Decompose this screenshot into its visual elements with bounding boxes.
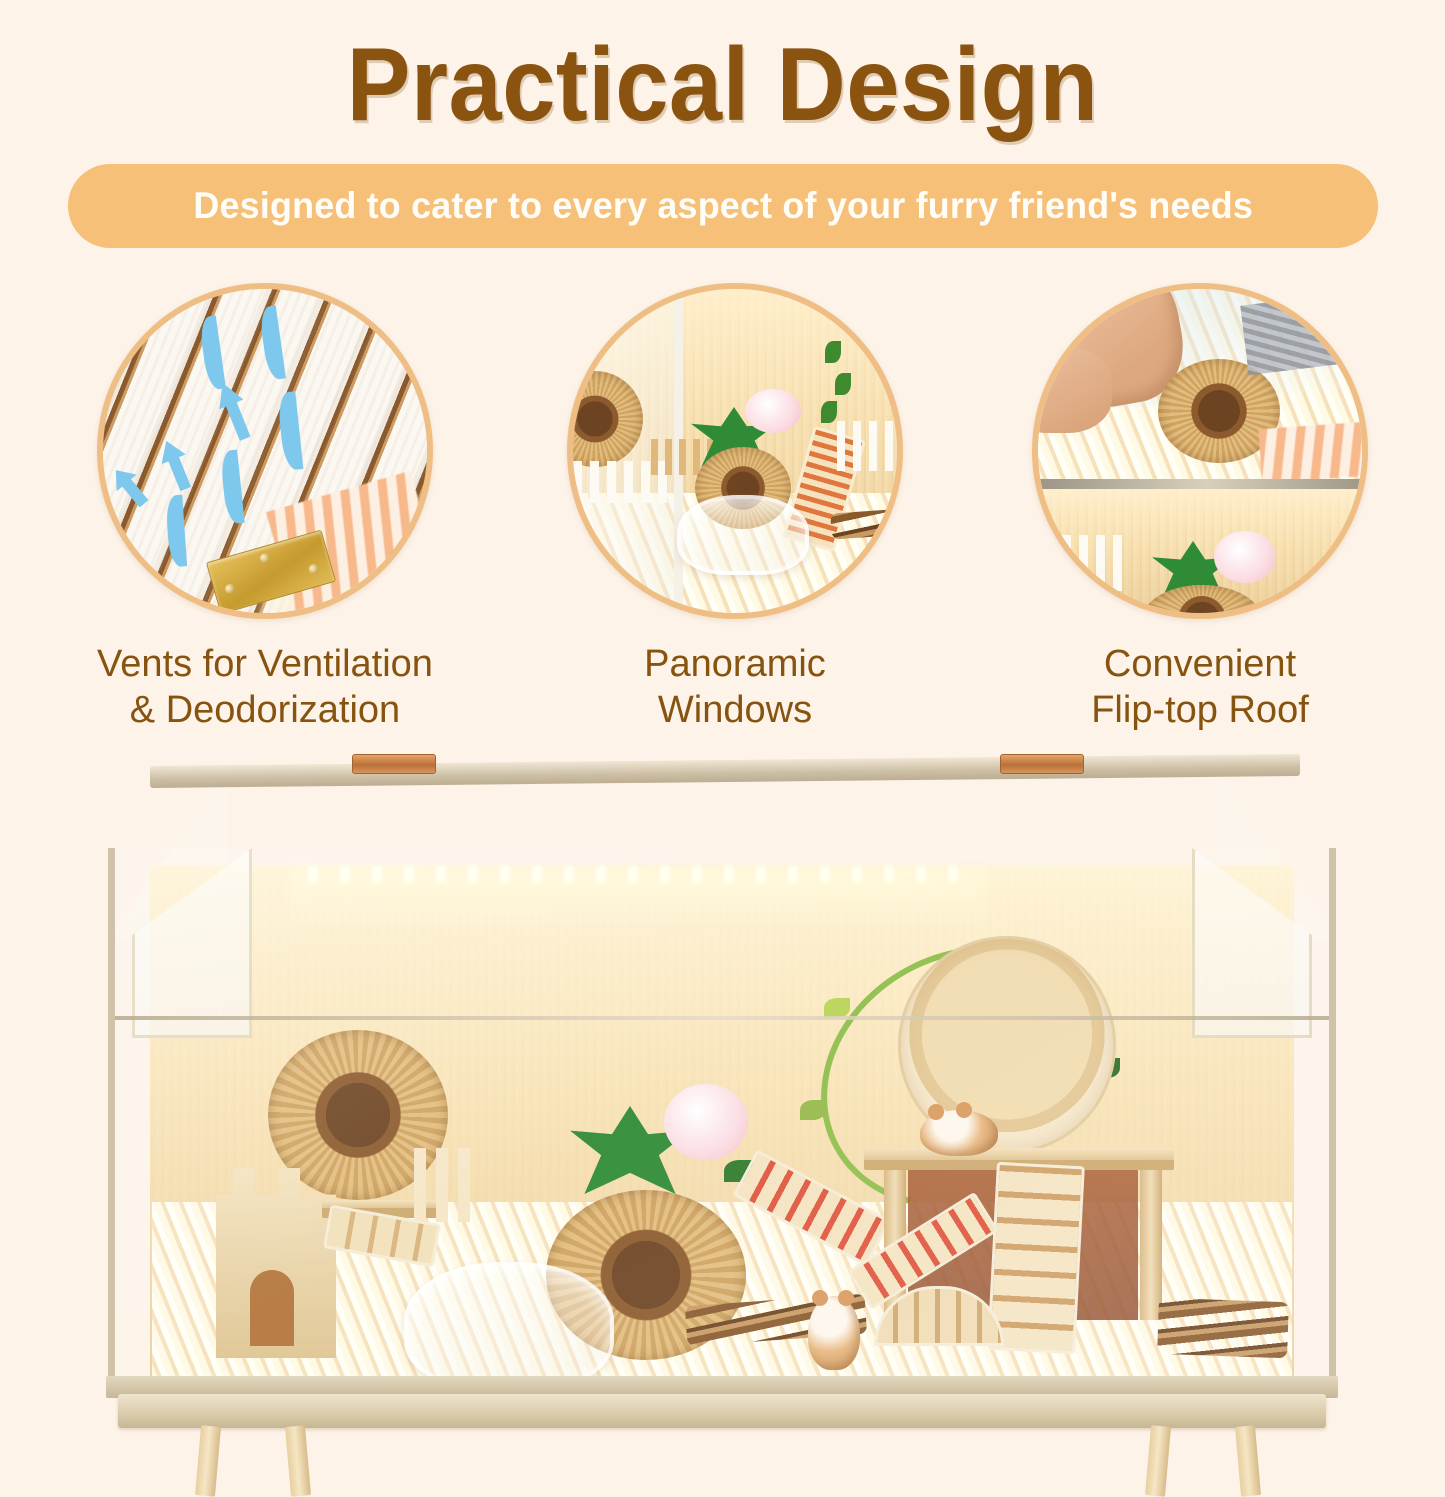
brass-hinge-icon: [352, 754, 436, 774]
ladder-icon: [1258, 421, 1362, 483]
cage-body: [108, 848, 1336, 1408]
glass-seam: [1038, 479, 1362, 489]
feature-image-windows: [567, 283, 903, 619]
hamster-standing-in-bedding: [808, 1296, 860, 1370]
feature-caption-ventilation: Vents for Ventilation & Deodorization: [97, 641, 433, 734]
caption-line: Panoramic: [567, 641, 903, 687]
base-plank: [118, 1394, 1326, 1428]
tapered-leg: [285, 1425, 311, 1496]
caption-line: Convenient: [1032, 641, 1368, 687]
led-light-dots: [308, 866, 968, 882]
hamster-ear: [812, 1290, 828, 1306]
product-photo: [0, 748, 1445, 1445]
brass-hinge-icon: [1000, 754, 1084, 774]
feature-caption-roof: Convenient Flip-top Roof: [1032, 641, 1368, 734]
hamster-ear: [838, 1290, 854, 1306]
artificial-vine: [800, 1100, 826, 1120]
hamster-ear: [956, 1102, 972, 1118]
picket-fence-icon: [1038, 535, 1124, 591]
caption-line: & Deodorization: [97, 687, 433, 733]
pink-blossom: [664, 1084, 748, 1160]
page-title: Practical Design: [58, 26, 1387, 145]
tapered-leg: [1235, 1425, 1261, 1496]
flip-top-roof-ridge: [150, 754, 1300, 788]
artificial-vine: [821, 401, 837, 423]
tapered-leg: [195, 1425, 221, 1496]
platform-post: [1140, 1170, 1162, 1320]
feature-caption-windows: Panoramic Windows: [567, 641, 903, 734]
chew-sticks: [830, 508, 897, 539]
pink-blossom: [745, 389, 801, 433]
caption-line: Vents for Ventilation: [97, 641, 433, 687]
climbing-ladder: [987, 1162, 1085, 1354]
castle-door: [250, 1270, 294, 1346]
glass-sand-bath: [677, 495, 809, 575]
glass-sand-bath: [404, 1262, 614, 1390]
artificial-vine: [835, 373, 851, 395]
hamster-on-platform: [920, 1110, 998, 1156]
chew-sticks: [1157, 1298, 1289, 1359]
hamster-ear: [928, 1104, 944, 1120]
picket-fence-icon: [837, 421, 897, 471]
feature-ventilation: Vents for Ventilation & Deodorization: [97, 283, 433, 734]
feature-roof: Convenient Flip-top Roof: [1032, 283, 1368, 734]
picket-fence-icon: [414, 1148, 476, 1222]
feature-image-ventilation: [97, 283, 433, 619]
caption-line: Windows: [567, 687, 903, 733]
artificial-vine: [824, 998, 850, 1018]
tapered-leg: [1145, 1425, 1171, 1496]
subtitle-text: Designed to cater to every aspect of you…: [193, 185, 1253, 227]
caption-line: Flip-top Roof: [1032, 687, 1368, 733]
artificial-vine: [825, 341, 841, 363]
hand-icon: [1038, 347, 1112, 433]
interior-section: [1038, 489, 1362, 613]
feature-image-roof: [1032, 283, 1368, 619]
pink-blossom: [1214, 531, 1276, 583]
top-view-section: [1038, 289, 1362, 485]
subtitle-banner: Designed to cater to every aspect of you…: [68, 164, 1378, 248]
feature-windows: Panoramic Windows: [567, 283, 903, 734]
